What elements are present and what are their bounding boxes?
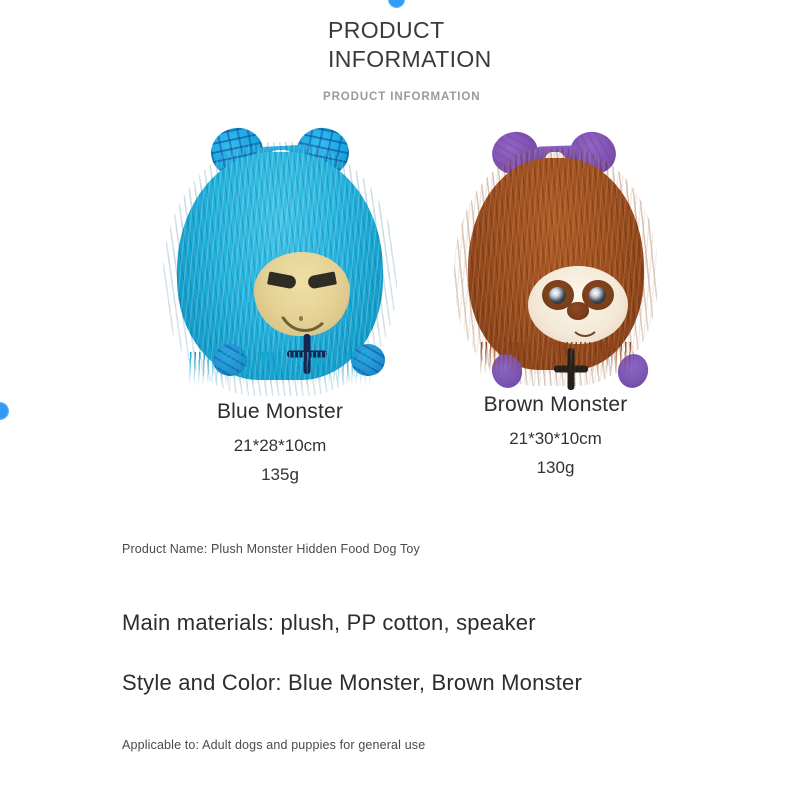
eye-left-icon bbox=[267, 271, 297, 289]
product-image-blue-monster bbox=[155, 120, 405, 390]
product-card-blue-monster: Blue Monster 21*28*10cm 135g bbox=[155, 120, 405, 485]
product-showcase: Blue Monster 21*28*10cm 135g bbox=[0, 120, 800, 520]
product-image-brown-monster bbox=[448, 128, 663, 383]
product-information-page: PRODUCT INFORMATION PRODUCT INFORMATION bbox=[0, 0, 800, 800]
product-weight-label: 130g bbox=[448, 458, 663, 478]
product-name-label: Blue Monster bbox=[155, 400, 405, 424]
product-weight-label: 135g bbox=[155, 465, 405, 485]
nostril-icon bbox=[299, 316, 303, 321]
page-subtitle: PRODUCT INFORMATION bbox=[323, 91, 480, 103]
mouth-icon bbox=[570, 319, 600, 337]
fur-fringe-icon bbox=[187, 352, 373, 386]
spec-applicable-to: Applicable to: Adult dogs and puppies fo… bbox=[122, 738, 425, 752]
product-size-label: 21*28*10cm bbox=[155, 436, 405, 456]
spec-main-materials: Main materials: plush, PP cotton, speake… bbox=[122, 610, 536, 636]
nose-icon bbox=[567, 302, 589, 320]
edge-marker-top-icon bbox=[388, 0, 405, 8]
spec-style-and-color: Style and Color: Blue Monster, Brown Mon… bbox=[122, 670, 582, 696]
plush-body bbox=[177, 152, 383, 380]
page-title-line-2: INFORMATION bbox=[328, 45, 658, 74]
eye-pupil-icon bbox=[589, 287, 606, 304]
plush-body bbox=[468, 158, 644, 370]
page-title-line-1: PRODUCT bbox=[328, 16, 658, 45]
product-name-label: Brown Monster bbox=[448, 393, 663, 417]
eye-pupil-icon bbox=[549, 287, 566, 304]
fur-fringe-icon bbox=[478, 342, 634, 376]
mouth-icon bbox=[278, 304, 332, 332]
product-card-brown-monster: Brown Monster 21*30*10cm 130g bbox=[448, 128, 663, 478]
product-size-label: 21*30*10cm bbox=[448, 429, 663, 449]
face bbox=[528, 266, 628, 344]
page-title: PRODUCT INFORMATION bbox=[328, 16, 658, 74]
spec-product-name: Product Name: Plush Monster Hidden Food … bbox=[122, 542, 420, 556]
eye-right-icon bbox=[307, 271, 337, 289]
face bbox=[254, 252, 350, 336]
